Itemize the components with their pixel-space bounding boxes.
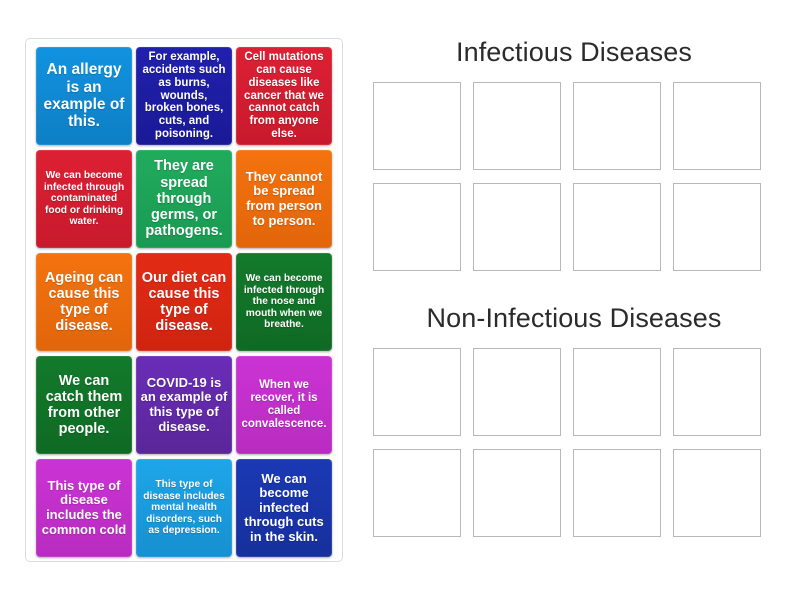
drop-slot[interactable] [573,449,661,537]
answer-tile-grid: An allergy is an example of this.For exa… [33,47,335,557]
answer-tile[interactable]: We can become infected through contamina… [36,150,132,248]
category-non-infectious-diseases: Non-Infectious Diseases [368,304,780,537]
answer-tile-label: When we recover, it is called convalesce… [240,379,328,431]
drop-slot[interactable] [373,82,461,170]
answer-tile-label: They are spread through germs, or pathog… [140,158,228,239]
drop-slot[interactable] [573,82,661,170]
drop-slot-grid-non-infectious [368,348,780,537]
group-sort-activity: An allergy is an example of this.For exa… [0,0,800,600]
answer-tile-label: An allergy is an example of this. [40,61,128,130]
answer-tile-label: This type of disease includes the common… [40,479,128,537]
answer-tile[interactable]: They are spread through germs, or pathog… [136,150,232,248]
drop-slot[interactable] [673,183,761,271]
answer-tile[interactable]: Our diet can cause this type of disease. [136,253,232,351]
answer-tile-label: We can become infected through cuts in t… [240,472,328,545]
drop-slot[interactable] [573,183,661,271]
answer-tile[interactable]: Ageing can cause this type of disease. [36,253,132,351]
drop-slot[interactable] [673,82,761,170]
answer-tile[interactable]: We can become infected through the nose … [236,253,332,351]
answer-tile-label: For example, accidents such as burns, wo… [140,51,228,141]
drop-slot-grid-infectious [368,82,780,271]
drop-slot[interactable] [473,449,561,537]
answer-tile[interactable]: This type of disease includes mental hea… [136,459,232,557]
drop-slot[interactable] [373,348,461,436]
category-title-infectious: Infectious Diseases [368,38,780,68]
answer-tile[interactable]: When we recover, it is called convalesce… [236,356,332,454]
answer-tile-label: We can catch them from other people. [40,373,128,438]
answer-tile[interactable]: COVID-19 is an example of this type of d… [136,356,232,454]
answer-tile[interactable]: They cannot be spread from person to per… [236,150,332,248]
answer-tile-label: COVID-19 is an example of this type of d… [140,376,228,434]
answer-tile[interactable]: An allergy is an example of this. [36,47,132,145]
answer-tile[interactable]: For example, accidents such as burns, wo… [136,47,232,145]
answer-tile-label: Our diet can cause this type of disease. [140,270,228,335]
answer-tile-label: Ageing can cause this type of disease. [40,270,128,335]
answer-tile-tray: An allergy is an example of this.For exa… [25,38,343,562]
answer-tile[interactable]: This type of disease includes the common… [36,459,132,557]
drop-slot[interactable] [373,183,461,271]
drop-slot[interactable] [473,183,561,271]
drop-slot[interactable] [673,449,761,537]
category-infectious-diseases: Infectious Diseases [368,38,780,271]
answer-tile-label: We can become infected through contamina… [40,170,128,227]
drop-slot[interactable] [373,449,461,537]
answer-tile-label: Cell mutations can cause diseases like c… [240,51,328,141]
drop-slot[interactable] [573,348,661,436]
drop-slot[interactable] [473,348,561,436]
drop-slot[interactable] [473,82,561,170]
answer-tile[interactable]: We can catch them from other people. [36,356,132,454]
drop-slot[interactable] [673,348,761,436]
answer-tile-label: We can become infected through the nose … [240,273,328,330]
answer-tile-label: They cannot be spread from person to per… [240,170,328,228]
answer-tile[interactable]: Cell mutations can cause diseases like c… [236,47,332,145]
answer-tile[interactable]: We can become infected through cuts in t… [236,459,332,557]
answer-tile-label: This type of disease includes mental hea… [140,479,228,536]
category-title-non-infectious: Non-Infectious Diseases [368,304,780,334]
